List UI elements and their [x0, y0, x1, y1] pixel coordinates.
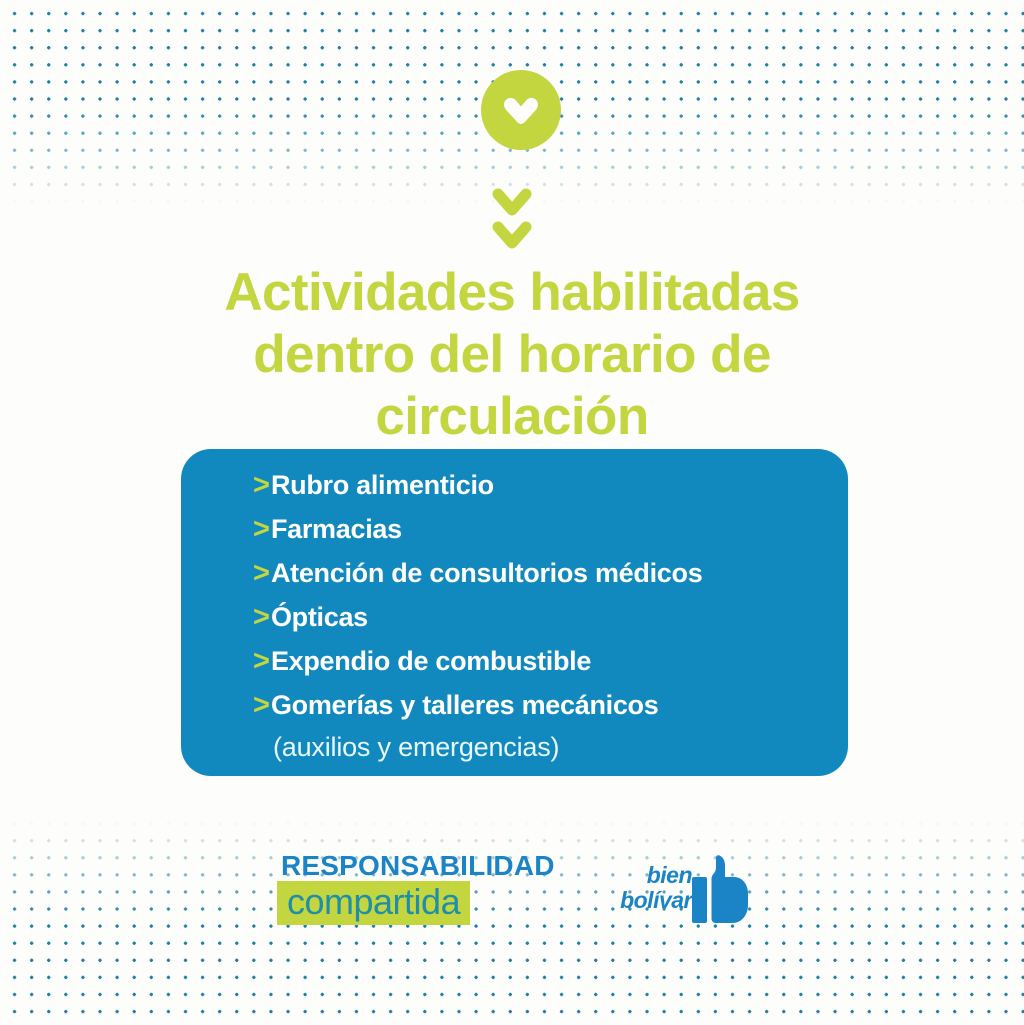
chevron-right-marker-icon: >	[253, 684, 270, 727]
bien-bolivar-line-2: bolívar	[600, 888, 692, 913]
list-item-label: Farmacias	[271, 508, 402, 551]
chevron-right-marker-icon: >	[253, 640, 270, 683]
resp-logo-line-1: RESPONSABILIDAD	[277, 852, 555, 880]
activities-panel: > Rubro alimenticio > Farmacias > Atenci…	[181, 449, 848, 776]
chevron-right-marker-icon: >	[253, 508, 270, 551]
list-item-label: Ópticas	[271, 596, 368, 639]
title-line-3: circulación	[140, 386, 884, 448]
thumb-b-icon	[692, 855, 748, 930]
responsabilidad-compartida-logo: RESPONSABILIDAD compartida	[277, 852, 555, 925]
bien-bolivar-line-1: bien	[600, 863, 692, 888]
title-line-2: dentro del horario de	[140, 324, 884, 386]
list-item: > Expendio de combustible	[253, 640, 834, 683]
list-item-label: Gomerías y talleres mecánicos	[271, 684, 659, 727]
chevron-right-marker-icon: >	[253, 552, 270, 595]
resp-logo-line-2: compartida	[287, 883, 460, 921]
list-item-label: Rubro alimenticio	[271, 464, 494, 507]
list-item: > Atención de consultorios médicos	[253, 552, 834, 595]
chevron-right-marker-icon: >	[253, 596, 270, 639]
list-item-label: Atención de consultorios médicos	[271, 552, 702, 595]
list-item-label: Expendio de combustible	[271, 640, 591, 683]
title-line-1: Actividades habilitadas	[140, 262, 884, 324]
list-item: > Gomerías y talleres mecánicos	[253, 684, 834, 727]
chevron-right-marker-icon: >	[253, 464, 270, 507]
list-item: > Farmacias	[253, 508, 834, 551]
poster-canvas: Actividades habilitadas dentro del horar…	[0, 0, 1024, 1025]
list-item: > Rubro alimenticio	[253, 464, 834, 507]
list-item: > Ópticas	[253, 596, 834, 639]
resp-logo-highlight: compartida	[277, 881, 470, 925]
bien-bolivar-wordmark: bien bolívar	[600, 863, 692, 913]
page-title: Actividades habilitadas dentro del horar…	[140, 262, 884, 448]
activities-list: > Rubro alimenticio > Farmacias > Atenci…	[253, 464, 834, 766]
double-chevron-down-icon	[480, 188, 546, 256]
list-item-sublabel: (auxilios y emergencias)	[253, 728, 834, 766]
check-circle-icon	[481, 70, 561, 150]
bien-bolivar-logo: bien bolívar	[600, 855, 750, 925]
